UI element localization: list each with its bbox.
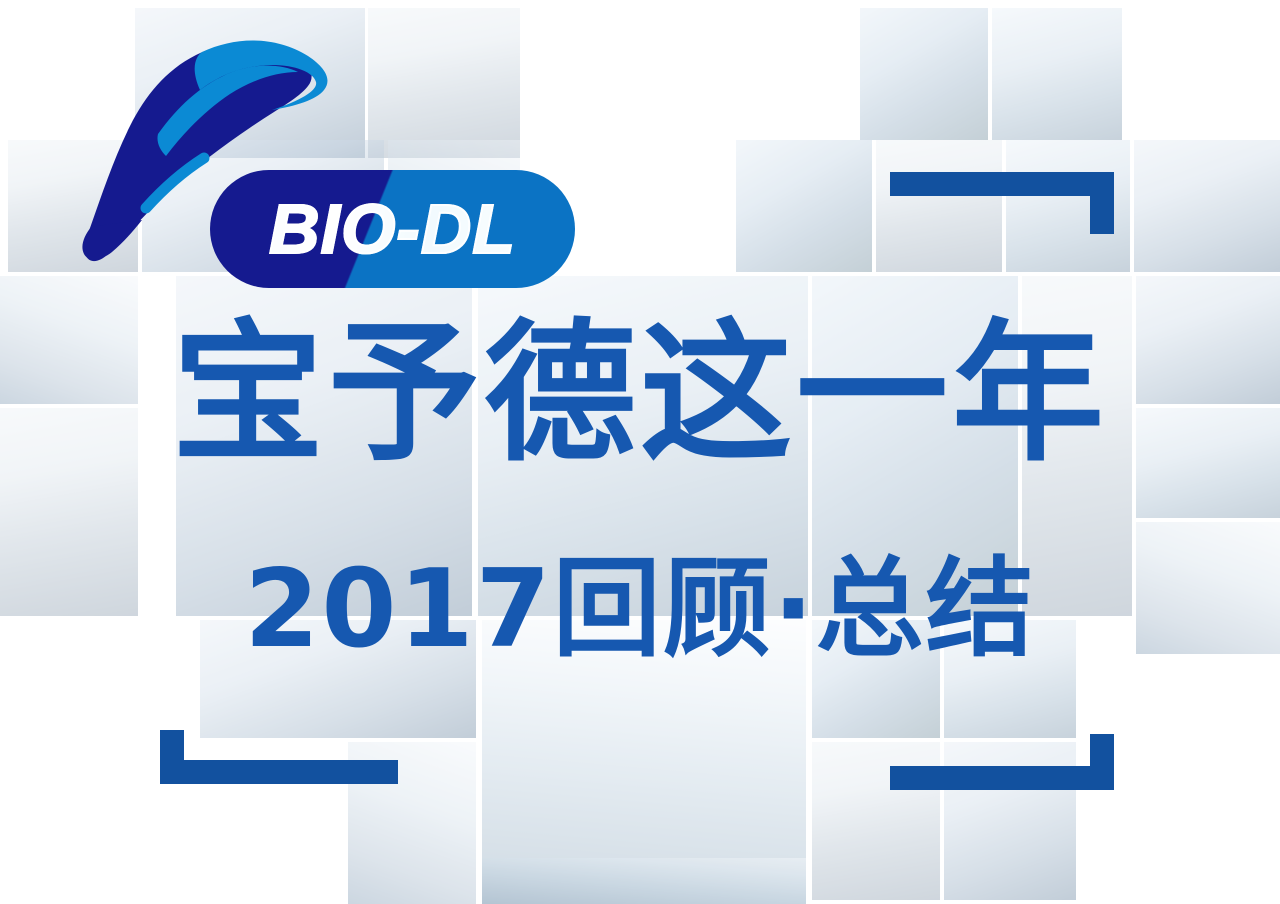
collage-photo-texture [736,140,872,272]
bracket-top-right-horizontal [890,172,1114,196]
bracket-bottom-left-horizontal [160,760,398,784]
poster-canvas: BIO-DL 宝予德这一年 2017回顾·总结 [0,0,1280,904]
bracket-bottom-left [160,730,398,784]
bracket-top-right [890,172,1114,234]
brand-logo: BIO-DL [50,22,530,280]
logo-wordmark: BIO-DL [210,170,575,288]
collage-photo-texture [860,8,988,140]
bracket-bottom-right-horizontal [890,766,1114,790]
collage-photo [1134,140,1280,272]
collage-photo [860,8,988,140]
collage-photo [736,140,872,272]
collage-photo [482,858,806,904]
page-title: 宝予德这一年 [0,318,1280,470]
collage-photo-texture [992,8,1122,140]
logo-badge: BIO-DL [210,170,575,288]
collage-photo [992,8,1122,140]
collage-photo-texture [1134,140,1280,272]
page-subtitle: 2017回顾·总结 [0,556,1280,664]
bracket-bottom-right [890,734,1114,790]
collage-photo-texture [482,858,806,904]
bracket-top-right-vertical [1090,172,1114,234]
